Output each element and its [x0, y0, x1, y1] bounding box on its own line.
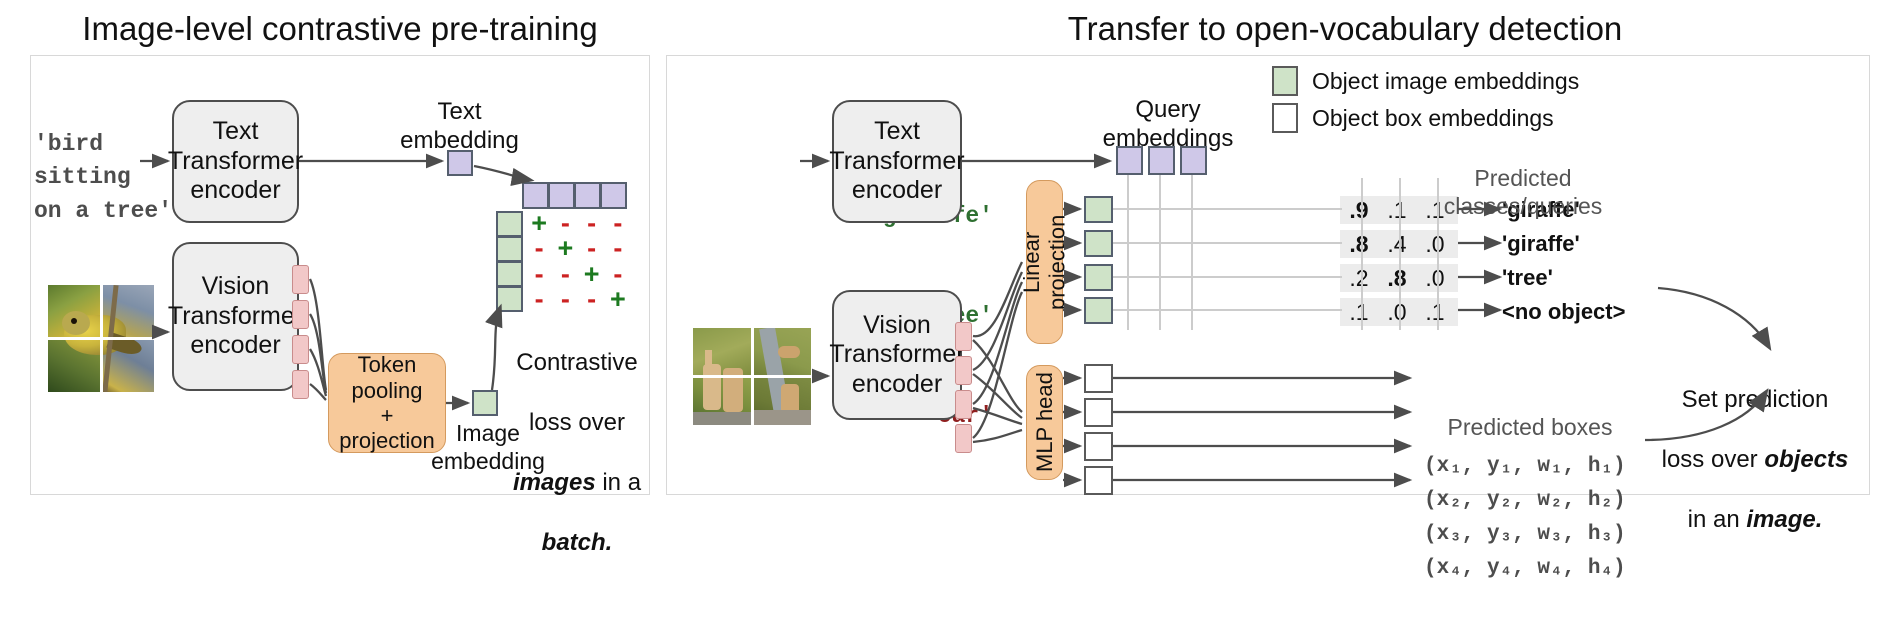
loss-line2: loss over [529, 409, 625, 436]
matrix-negative-cell: - [526, 287, 552, 312]
score-cell: .0 [1416, 264, 1454, 292]
right-panel-title: Transfer to open-vocabulary detection [820, 10, 1870, 48]
matrix-positive-cell: + [605, 287, 631, 312]
right-text-transformer-encoder: Text Transformer encoder [832, 100, 962, 223]
left-patch-token [292, 335, 309, 364]
right-input-image [693, 328, 811, 425]
right-vision-transformer-encoder: Vision Transformer encoder [832, 290, 962, 420]
object-box-embedding-square [1084, 398, 1113, 427]
object-image-embedding-square [1084, 297, 1113, 324]
score-cell: .9 [1340, 196, 1378, 224]
left-text-transformer-encoder: Text Transformer encoder [172, 100, 299, 223]
score-cell: .8 [1378, 264, 1416, 292]
left-batch-text-token [574, 182, 601, 209]
score-cell: .1 [1416, 298, 1454, 326]
contrastive-matrix: +----+----+----+ [526, 211, 631, 312]
left-patch-token [292, 300, 309, 329]
matrix-negative-cell: - [579, 287, 605, 312]
score-cell: .0 [1378, 298, 1416, 326]
loss-line3-bold: images [513, 469, 596, 496]
score-cell: .4 [1378, 230, 1416, 258]
object-box-embedding-square [1084, 466, 1113, 495]
predicted-classes-label: Predicted classes/queries [1408, 165, 1638, 220]
predicted-class-label: 'tree' [1502, 264, 1752, 292]
predicted-class-label: 'giraffe' [1502, 230, 1752, 258]
object-image-embedding-square [1084, 264, 1113, 291]
left-patch-token [292, 265, 309, 294]
left-batch-image-token [496, 211, 523, 237]
left-loss-caption: Contrastive loss over images in a batch. [497, 318, 657, 558]
set-loss-line1: Set prediction [1682, 386, 1829, 413]
left-batch-image-token [496, 261, 523, 287]
set-loss-line2-bold: objects [1764, 446, 1848, 473]
score-cell: .8 [1340, 230, 1378, 258]
matrix-negative-cell: - [552, 287, 578, 312]
set-loss-line3-bold: image. [1746, 506, 1822, 533]
score-cell: .0 [1416, 230, 1454, 258]
loss-line1: Contrastive [516, 349, 637, 376]
left-batch-text-token [600, 182, 627, 209]
legend-object-image-embeddings: Object image embeddings [1272, 66, 1579, 96]
legend-object-box-embeddings: Object box embeddings [1272, 103, 1554, 133]
score-cell: .1 [1340, 298, 1378, 326]
left-batch-text-token [548, 182, 575, 209]
loss-line3-rest: in a [596, 469, 641, 496]
object-image-embedding-square [1084, 196, 1113, 223]
diagram-root: Image-level contrastive pre-training 'bi… [0, 0, 1900, 639]
query-embedding-square [1116, 146, 1143, 175]
right-patch-token [955, 390, 972, 419]
left-batch-image-token [496, 286, 523, 312]
predicted-box-coords: (x₃, y₃, w₃, h₃) [1424, 523, 1626, 546]
left-text-embedding-label: Text embedding [392, 98, 527, 156]
left-input-image [48, 285, 154, 392]
right-patch-token [955, 356, 972, 385]
predicted-box-coords: (x₂, y₂, w₂, h₂) [1424, 489, 1626, 512]
predicted-class-label: <no object> [1502, 298, 1752, 326]
set-loss-line2-pre: loss over [1662, 446, 1765, 473]
object-box-embedding-square [1084, 432, 1113, 461]
left-text-embedding-square [447, 150, 473, 176]
left-panel-title: Image-level contrastive pre-training [30, 10, 650, 48]
left-batch-image-token [496, 236, 523, 262]
left-patch-token [292, 370, 309, 399]
legend-swatch-green [1272, 66, 1298, 96]
set-prediction-loss-caption: Set prediction loss over objects in an i… [1630, 355, 1880, 535]
legend-label: Object box embeddings [1312, 105, 1554, 132]
query-embedding-square [1148, 146, 1175, 175]
legend-label: Object image embeddings [1312, 68, 1579, 95]
query-embedding-square [1180, 146, 1207, 175]
predicted-box-coords: (x₄, y₄, w₄, h₄) [1424, 557, 1626, 580]
right-patch-token [955, 424, 972, 453]
left-batch-text-token [522, 182, 549, 209]
query-embeddings-label: Query embeddings [1093, 96, 1243, 154]
set-loss-line3-pre: in an [1688, 506, 1747, 533]
right-patch-token [955, 322, 972, 351]
loss-line4-bold: batch. [542, 529, 613, 556]
linear-projection-box: Linear projection [1026, 180, 1063, 344]
score-cell: .2 [1340, 264, 1378, 292]
mlp-head-box: MLP head [1026, 365, 1063, 480]
predicted-boxes-label: Predicted boxes [1420, 414, 1640, 442]
object-image-embedding-square [1084, 230, 1113, 257]
object-box-embedding-square [1084, 364, 1113, 393]
legend-swatch-white [1272, 103, 1298, 133]
predicted-box-coords: (x₁, y₁, w₁, h₁) [1424, 455, 1626, 478]
left-image-embedding-square [472, 390, 498, 416]
left-vision-transformer-encoder: Vision Transformer encoder [172, 242, 299, 391]
